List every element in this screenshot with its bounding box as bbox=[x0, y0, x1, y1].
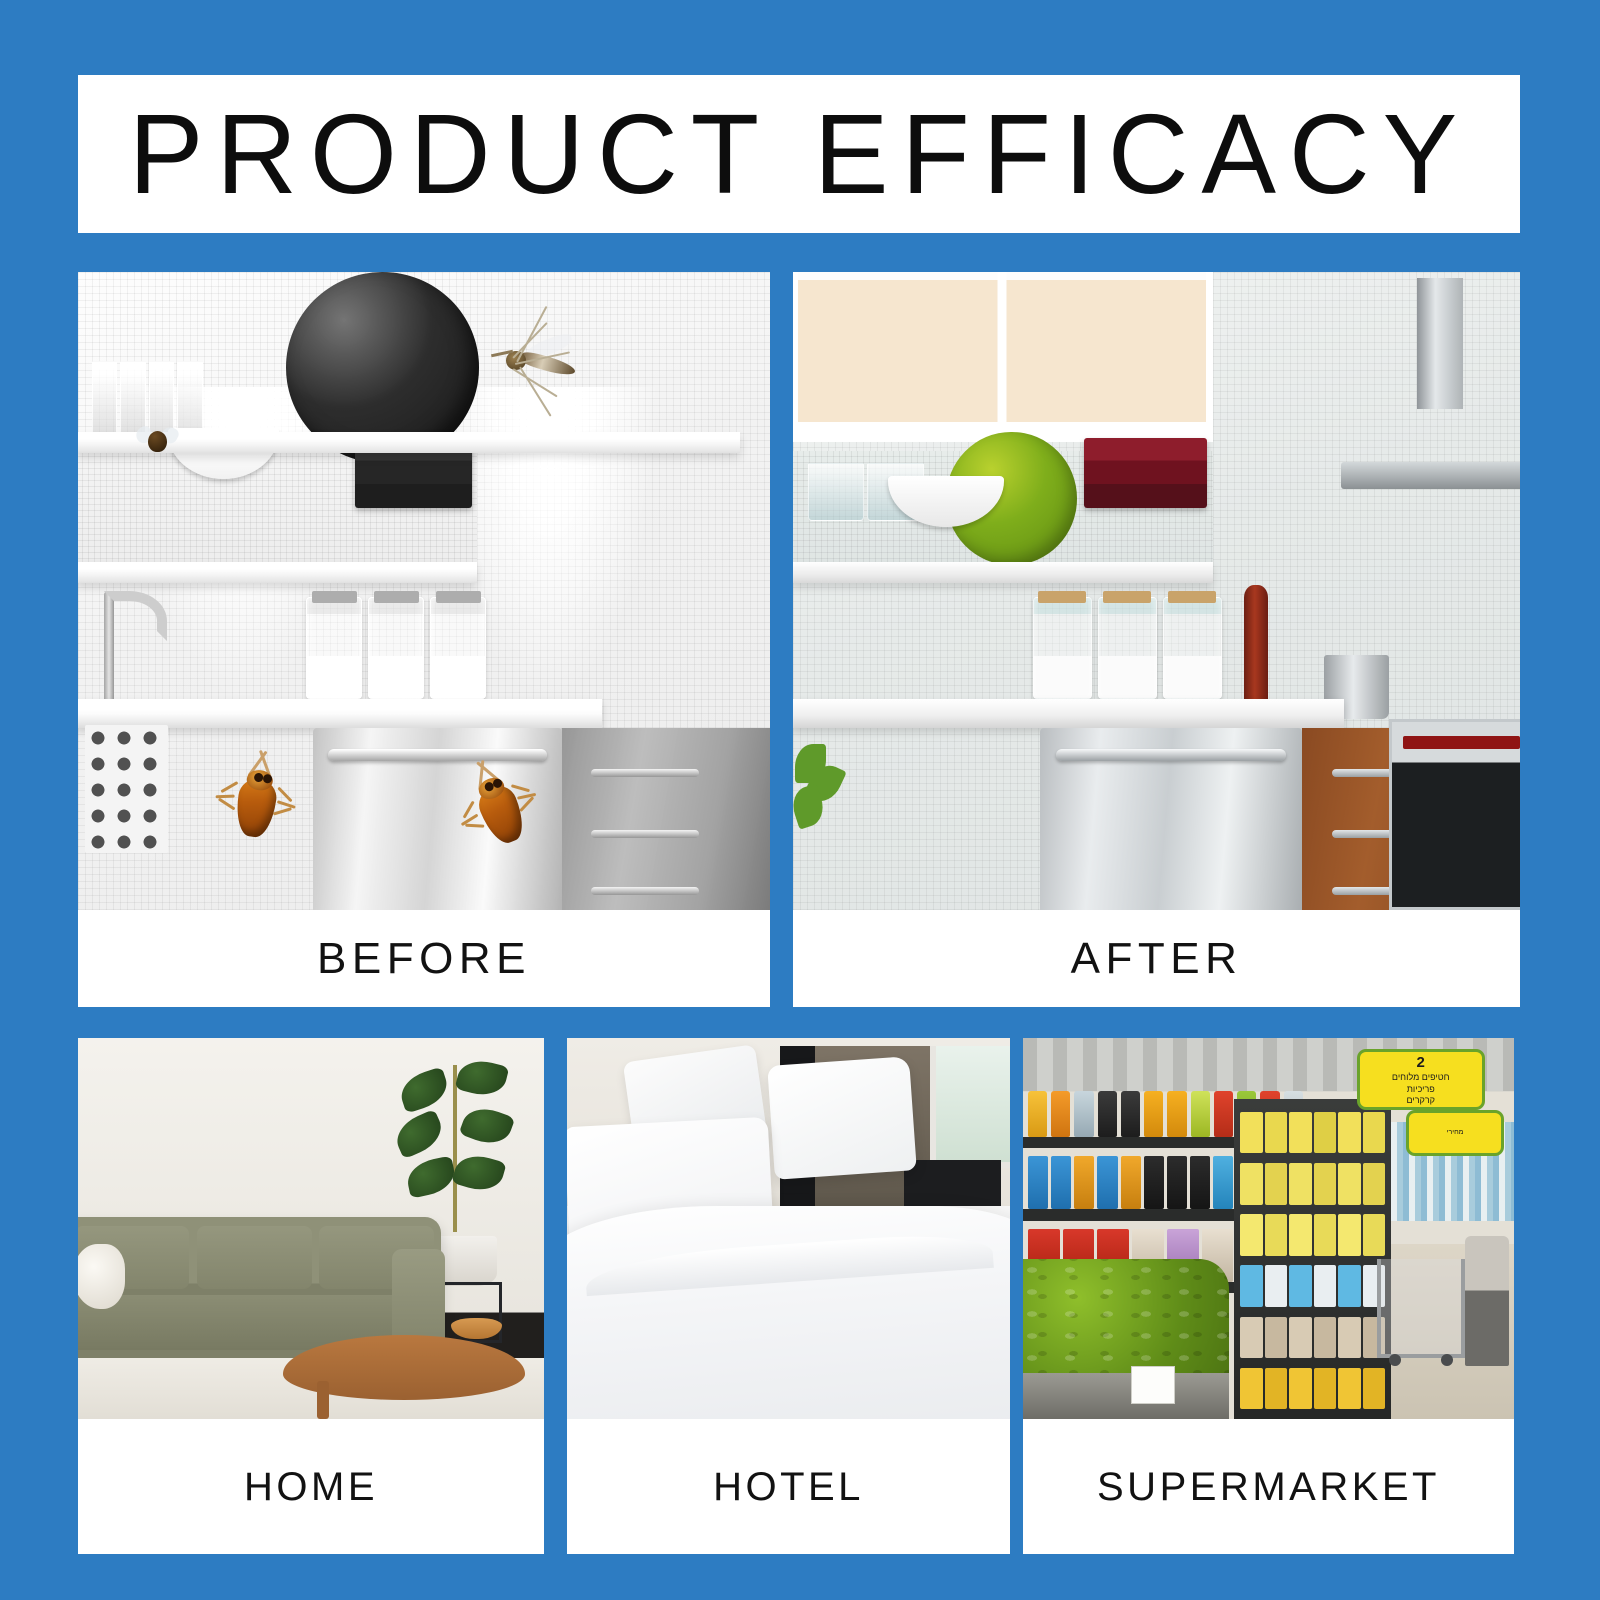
supermarket-label: SUPERMARKET bbox=[1097, 1467, 1440, 1507]
price-tag bbox=[1131, 1366, 1175, 1404]
wall-oven bbox=[1389, 719, 1520, 910]
supermarket-scene: 2 חטיפים מלוחים פריכיות קרקרים מחירי bbox=[1023, 1038, 1514, 1419]
upper-cabinets bbox=[793, 272, 1213, 442]
kitchen-faucet bbox=[92, 591, 161, 706]
before-photo bbox=[78, 272, 770, 910]
page-title: PRODUCT EFFICACY bbox=[128, 98, 1469, 211]
living-room-scene bbox=[78, 1038, 544, 1419]
sign-line-2: פריכיות bbox=[1407, 1084, 1435, 1095]
home-label: HOME bbox=[244, 1467, 378, 1507]
polka-dot-towel bbox=[85, 725, 168, 853]
open-shelf bbox=[793, 562, 1213, 582]
cucumber-produce-pile bbox=[1023, 1259, 1229, 1389]
produce-bin bbox=[1023, 1373, 1229, 1419]
countertop bbox=[793, 699, 1344, 728]
storage-jars bbox=[306, 597, 486, 699]
after-panel: AFTER bbox=[793, 272, 1520, 1007]
after-photo bbox=[793, 272, 1520, 910]
pillow bbox=[767, 1056, 916, 1180]
countertop bbox=[78, 699, 602, 728]
hotel-caption-band: HOTEL bbox=[567, 1419, 1010, 1554]
sign-line-1: חטיפים מלוחים bbox=[1392, 1072, 1450, 1083]
range-hood bbox=[1367, 278, 1512, 489]
before-label: BEFORE bbox=[317, 937, 531, 981]
after-caption-band: AFTER bbox=[793, 910, 1520, 1007]
hotel-label: HOTEL bbox=[713, 1467, 864, 1507]
title-bar: PRODUCT EFFICACY bbox=[78, 75, 1520, 233]
sign-number: 2 bbox=[1417, 1054, 1425, 1073]
nightstand bbox=[904, 1160, 1001, 1206]
herb-plant bbox=[793, 738, 851, 840]
kitchen-scene-grayscale bbox=[78, 272, 770, 910]
storage-jars bbox=[1033, 597, 1222, 699]
grey-cabinet bbox=[562, 728, 770, 910]
knot-cushion bbox=[78, 1244, 125, 1309]
fly-icon bbox=[140, 425, 174, 455]
after-label: AFTER bbox=[1071, 937, 1243, 981]
supermarket-photo: 2 חטיפים מלוחים פריכיות קרקרים מחירי bbox=[1023, 1038, 1514, 1419]
promo-sign-secondary: מחירי bbox=[1406, 1110, 1504, 1156]
home-photo bbox=[78, 1038, 544, 1419]
lower-shelf bbox=[78, 562, 477, 582]
hotel-panel: HOTEL bbox=[567, 1038, 1010, 1554]
shopper bbox=[1465, 1236, 1509, 1366]
promo-sign: 2 חטיפים מלוחים פריכיות קרקרים bbox=[1357, 1049, 1485, 1110]
end-cap-display bbox=[1234, 1099, 1391, 1419]
kitchen-scene-color bbox=[793, 272, 1520, 910]
window bbox=[930, 1046, 1010, 1168]
cockroach-icon bbox=[225, 760, 289, 841]
hotel-room-scene bbox=[567, 1038, 1010, 1419]
home-panel: HOME bbox=[78, 1038, 544, 1554]
red-napkins bbox=[1084, 438, 1208, 508]
coffee-table bbox=[283, 1335, 525, 1400]
supermarket-caption-band: SUPERMARKET bbox=[1023, 1419, 1514, 1554]
supermarket-panel: 2 חטיפים מלוחים פריכיות קרקרים מחירי SUP… bbox=[1023, 1038, 1514, 1554]
dishwasher bbox=[1040, 728, 1302, 910]
mosquito-icon bbox=[479, 323, 591, 409]
sign-line-3: קרקרים bbox=[1406, 1095, 1435, 1106]
home-caption-band: HOME bbox=[78, 1419, 544, 1554]
sign2-line-1: מחירי bbox=[1447, 1129, 1464, 1138]
hotel-photo bbox=[567, 1038, 1010, 1419]
shopping-cart bbox=[1377, 1259, 1465, 1358]
before-panel: BEFORE bbox=[78, 272, 770, 1007]
before-caption-band: BEFORE bbox=[78, 910, 770, 1007]
